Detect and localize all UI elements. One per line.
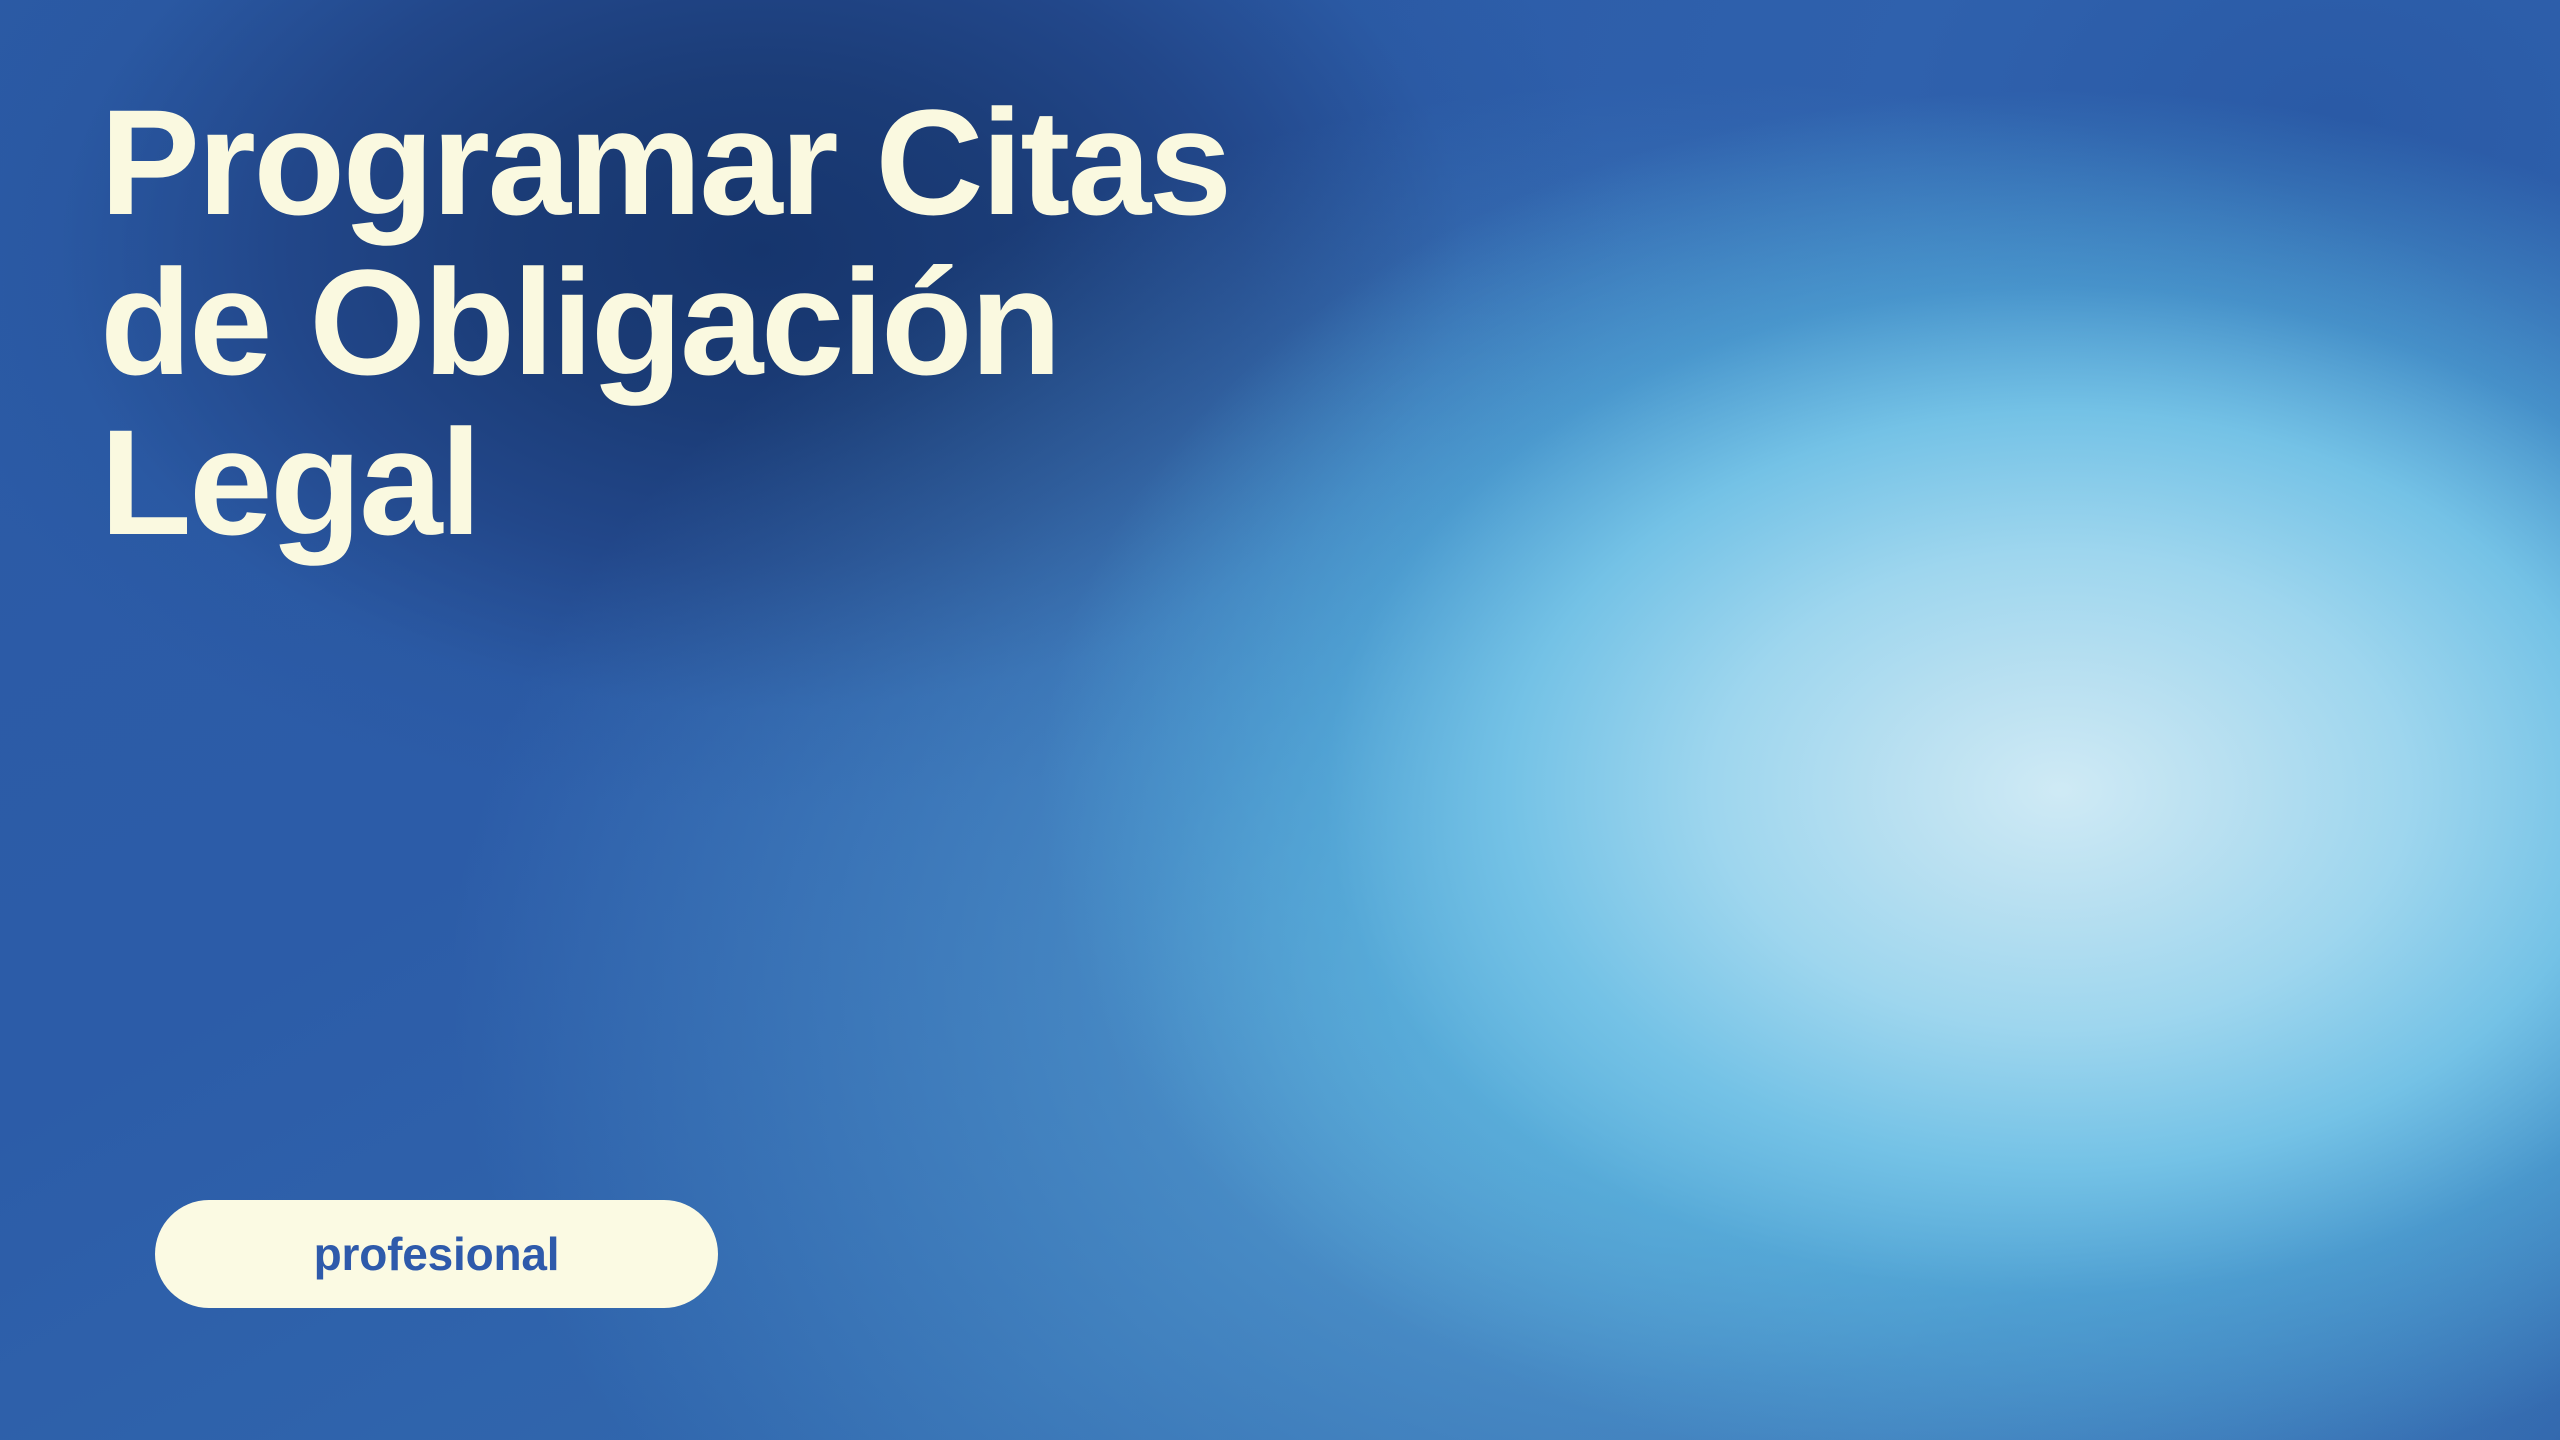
title-line-1: Programar Citas (100, 82, 2100, 242)
title-line-3: Legal (100, 402, 2100, 562)
title-line-2: de Obligación (100, 242, 2100, 402)
hero-card: Programar Citas de Obligación Legal prof… (0, 0, 2560, 1440)
status-badge-label: profesional (314, 1227, 560, 1281)
status-badge: profesional (155, 1200, 718, 1308)
page-title: Programar Citas de Obligación Legal (100, 82, 2100, 562)
